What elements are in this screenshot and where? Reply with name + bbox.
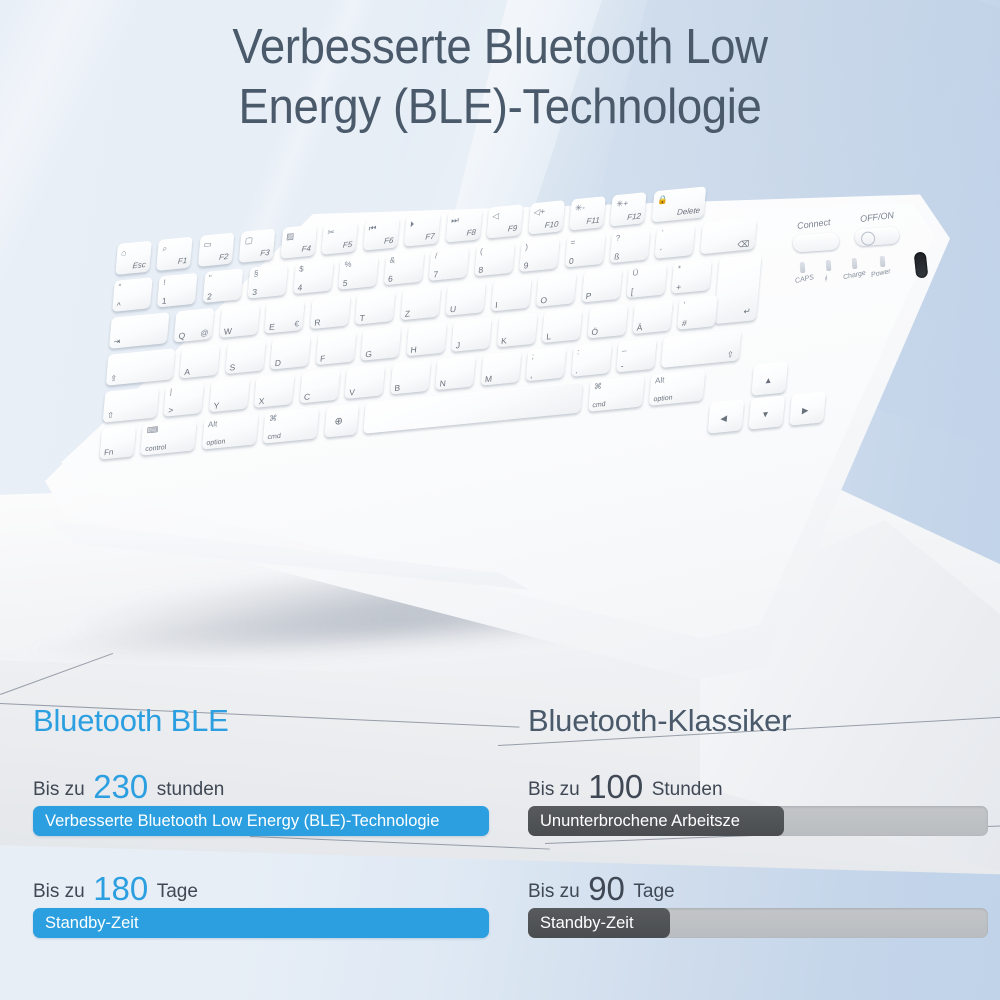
key-f12-brightness-up[interactable]: ✳+F12 (610, 192, 646, 226)
key-circumflex[interactable]: °^ (112, 277, 152, 312)
key-f6-prev-track[interactable]: ⏮F6 (363, 216, 399, 250)
key-control[interactable]: ⌨control (141, 419, 197, 455)
key-f[interactable]: F (316, 331, 356, 366)
left-stat-hours-value: 230 (93, 768, 148, 805)
globe-key-icon[interactable]: ⊕ (324, 403, 358, 437)
key-4[interactable]: $4 (293, 259, 333, 294)
key-q[interactable]: Q@ (174, 308, 214, 343)
key-h[interactable]: H (406, 322, 446, 357)
key-v[interactable]: V (345, 364, 385, 399)
key-tab[interactable]: ⇥ (109, 312, 169, 349)
key-f2[interactable]: ▭F2 (198, 233, 234, 267)
key-odiaeresis[interactable]: Ö (587, 304, 627, 339)
left-stat-hours-unit: stunden (157, 779, 225, 800)
key-f10-volume-up[interactable]: ◁+F10 (528, 200, 564, 234)
key-p[interactable]: P (581, 268, 621, 303)
key-arrow-up[interactable]: ▲ (751, 361, 787, 395)
key-f11-brightness-down[interactable]: ✳-F11 (569, 196, 605, 230)
left-column-heading: Bluetooth BLE (33, 703, 229, 739)
key-arrow-down[interactable]: ▼ (748, 395, 784, 429)
key-m[interactable]: M (480, 351, 520, 386)
key-shift-left[interactable]: ⇧ (103, 386, 159, 422)
right-stat-standby-prefix: Bis zu (528, 881, 580, 902)
key-b[interactable]: B (390, 360, 430, 395)
right-column-heading: Bluetooth-Klassiker (528, 703, 791, 739)
key-delete-lock[interactable]: 🔒Delete (652, 186, 706, 222)
key-backspace[interactable]: ⌫ (700, 218, 756, 254)
key-numbersign[interactable]: '# (678, 295, 718, 330)
key-z[interactable]: Z (400, 286, 440, 321)
key-y[interactable]: Y (209, 378, 249, 413)
key-w[interactable]: W (219, 303, 259, 338)
key-shift-right[interactable]: ⇧ (661, 329, 741, 368)
key-t[interactable]: T (355, 290, 395, 325)
right-bar-standby: Standby-Zeit (528, 908, 988, 938)
key-i[interactable]: I (491, 277, 531, 312)
key-plus[interactable]: *+ (672, 259, 712, 294)
key-minus[interactable]: _- (616, 338, 656, 373)
key-esc[interactable]: ⌂Esc (115, 241, 151, 275)
left-stat-standby-unit: Tage (157, 881, 198, 902)
key-caps-lock[interactable]: ⇪ (106, 348, 175, 385)
key-x[interactable]: X (254, 373, 294, 408)
key-f9-volume-down[interactable]: ◁F9 (487, 204, 523, 238)
key-1[interactable]: !1 (157, 273, 197, 308)
key-a[interactable]: A (180, 344, 220, 379)
left-bar-working-time-label: Verbesserte Bluetooth Low Energy (BLE)-T… (45, 812, 439, 831)
arrow-key-cluster: ▲ ◀ ▼ ▶ (707, 357, 834, 435)
key-r[interactable]: R (310, 294, 350, 329)
left-bar-working-time: Verbesserte Bluetooth Low Energy (BLE)-T… (33, 806, 489, 836)
key-f4[interactable]: ▨F4 (280, 225, 316, 259)
key-acute[interactable]: `´ (655, 224, 695, 259)
key-k[interactable]: K (497, 313, 537, 348)
key-eszett[interactable]: ?ß (610, 228, 650, 263)
key-f5[interactable]: ✂F5 (322, 220, 358, 254)
right-bar-working-time-label: Ununterbrochene Arbeitsze (540, 812, 740, 831)
key-f3[interactable]: ▢F3 (239, 229, 275, 263)
key-l[interactable]: L (542, 308, 582, 343)
right-stat-hours-unit: Stunden (652, 779, 723, 800)
right-stat-standby: Bis zu 90 Tage (528, 872, 675, 905)
key-less-greater[interactable]: |> (164, 382, 204, 417)
key-e[interactable]: E€ (265, 299, 305, 334)
key-0[interactable]: =0 (565, 233, 605, 268)
right-stat-standby-unit: Tage (633, 881, 674, 902)
key-9[interactable]: )9 (519, 237, 559, 272)
key-s[interactable]: S (225, 339, 265, 374)
left-bar-standby-label: Standby-Zeit (45, 914, 139, 933)
left-bar-standby: Standby-Zeit (33, 908, 489, 938)
key-3[interactable]: §3 (248, 264, 288, 299)
right-stat-hours-prefix: Bis zu (528, 779, 580, 800)
key-command-left[interactable]: ⌘cmd (263, 407, 319, 443)
right-stat-hours-value: 100 (588, 768, 643, 805)
key-6[interactable]: &6 (384, 251, 424, 286)
left-stat-standby: Bis zu 180 Tage (33, 872, 198, 905)
key-c[interactable]: C (300, 369, 340, 404)
right-stat-standby-value: 90 (588, 870, 625, 907)
left-stat-standby-prefix: Bis zu (33, 881, 85, 902)
key-alt-option-right[interactable]: Altoption (649, 369, 705, 405)
left-stat-hours-prefix: Bis zu (33, 779, 85, 800)
left-stat-hours: Bis zu 230 stunden (33, 770, 224, 803)
key-8[interactable]: (8 (474, 242, 514, 277)
key-comma[interactable]: ;, (526, 347, 566, 382)
key-d[interactable]: D (270, 335, 310, 370)
key-alt-option-left[interactable]: Altoption (202, 413, 258, 449)
right-bar-working-time: Ununterbrochene Arbeitsze (528, 806, 988, 836)
key-f1[interactable]: ⌕F1 (157, 237, 193, 271)
key-f7-play-pause[interactable]: ⏵F7 (404, 212, 440, 246)
key-adiaeresis[interactable]: Ä (632, 299, 672, 334)
key-u[interactable]: U (446, 281, 486, 316)
key-j[interactable]: J (451, 317, 491, 352)
key-udiaeresis[interactable]: Ü[ (627, 263, 667, 298)
key-7[interactable]: /7 (429, 246, 469, 281)
key-n[interactable]: N (435, 355, 475, 390)
key-arrow-right[interactable]: ▶ (789, 391, 825, 425)
key-2[interactable]: "2 (203, 268, 243, 303)
right-stat-hours: Bis zu 100 Stunden (528, 770, 723, 803)
left-stat-standby-value: 180 (93, 870, 148, 907)
key-arrow-left[interactable]: ◀ (707, 399, 743, 433)
key-f8-next-track[interactable]: ⏭F8 (445, 208, 481, 242)
key-period[interactable]: :. (571, 342, 611, 377)
key-g[interactable]: G (361, 326, 401, 361)
key-5[interactable]: %5 (338, 255, 378, 290)
key-command-right[interactable]: ⌘cmd (588, 375, 644, 411)
right-bar-standby-label: Standby-Zeit (540, 914, 634, 933)
product-feature-image: Verbesserte Bluetooth Low Energy (BLE)-T… (0, 0, 1000, 1000)
key-fn[interactable]: Fn (100, 425, 136, 459)
key-o[interactable]: O (536, 272, 576, 307)
keyboard-product-photo: Connect OFF/ON CAPS ᚼ Charge Power ⌂Esc … (0, 0, 1000, 1000)
